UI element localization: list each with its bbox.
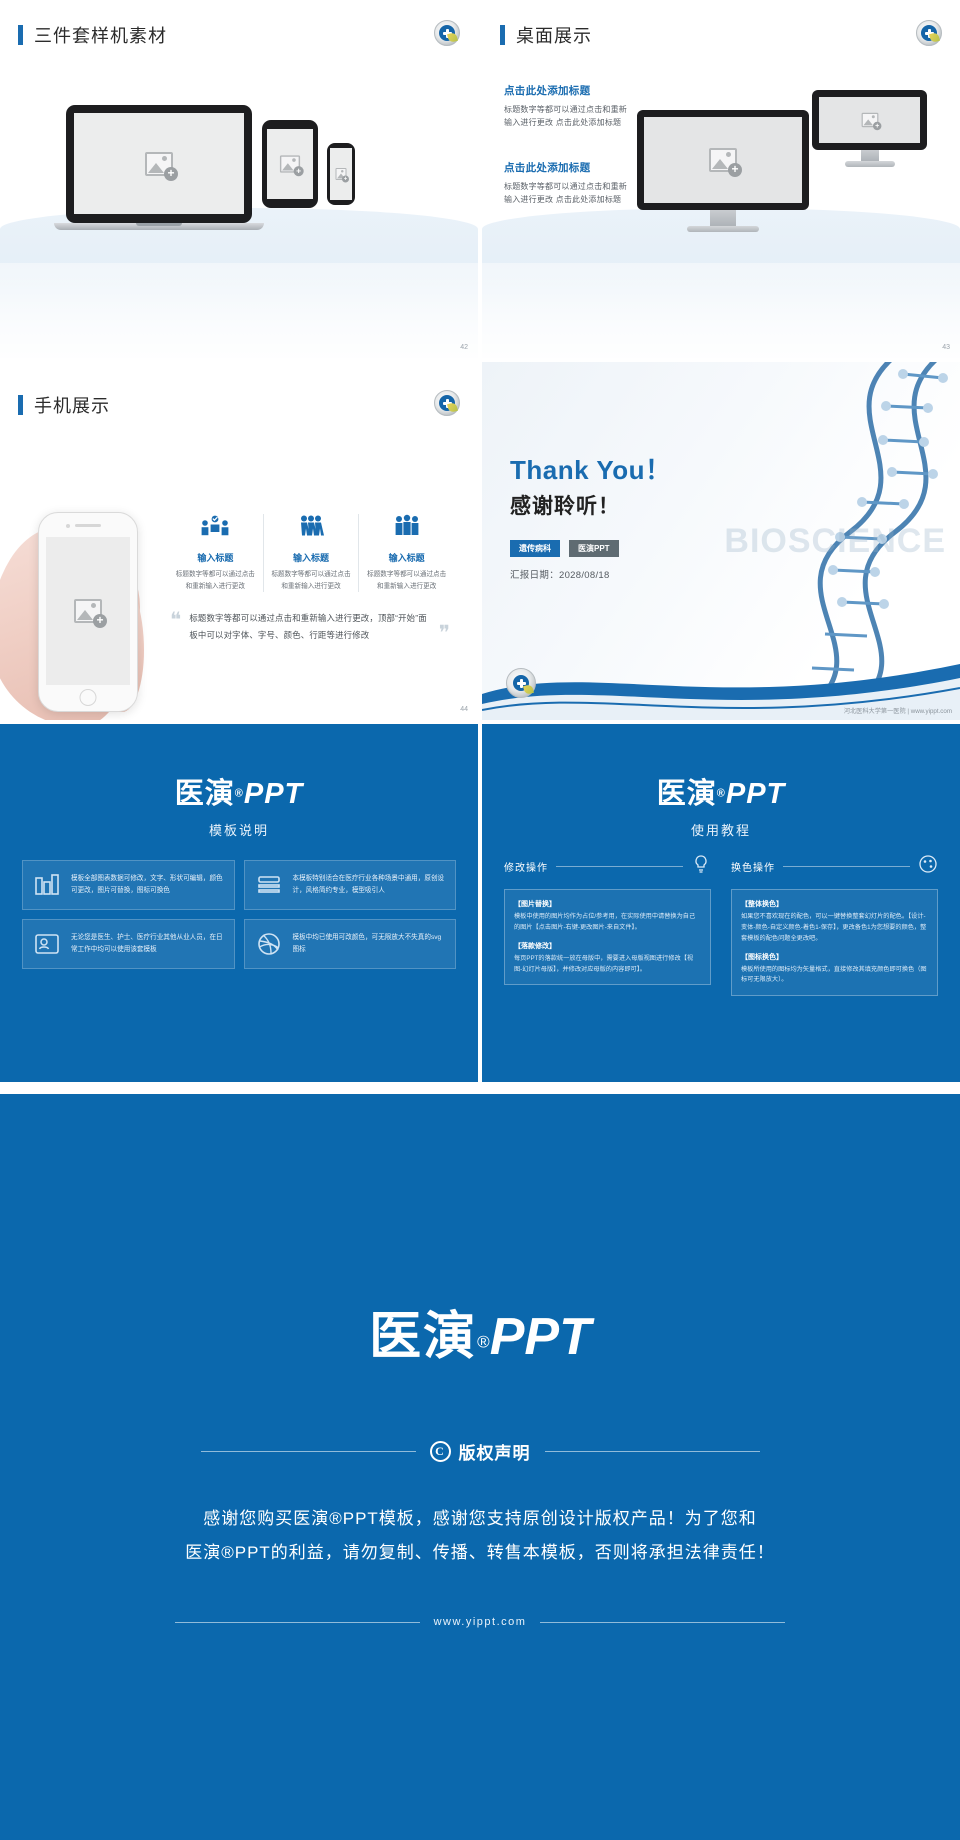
monitor-mockup-primary: +	[637, 110, 809, 232]
ppt-preview-page: 三件套样机素材 + +	[0, 0, 960, 1840]
info-card: 本模板特别适合在医疗行业各种场景中通用，原创设计，风格简约专业，模型吸引人	[244, 860, 457, 910]
info-card-grid: 模板全部图表数据可修改，文字、形状可编辑，颜色可更改，图片可替换，图标可换色 本…	[22, 860, 456, 969]
hospital-logo-icon	[506, 668, 536, 698]
team-check-icon	[200, 514, 230, 540]
dribbble-icon	[254, 929, 284, 959]
monitor-neck	[710, 210, 736, 226]
page-title: 三件套样机素材	[34, 22, 167, 48]
tablet-screen: +	[267, 129, 313, 199]
tutorial-box: 【图片替换】 模板中使用的图片均作为占位/参考用，在实际使用中请替换为自己的图片…	[504, 889, 711, 985]
monitor-neck	[861, 150, 879, 161]
report-date: 汇报日期：2028/08/18	[510, 567, 610, 581]
tutorial-box: 【整体换色】 如果您不喜欢现在的配色，可以一键替换整套幻灯片的配色。【设计-变体…	[731, 889, 938, 996]
phone-speaker	[75, 524, 101, 527]
slide-phone-display: 手机展示 +	[0, 362, 478, 720]
tutorial-columns: 修改操作 【图片替换】 模板中使用的图片均作为占位/参考用，在实际使用中请替换为…	[504, 854, 938, 996]
monitor-screen: +	[819, 97, 920, 143]
slide-page-number: 44	[460, 706, 468, 713]
info-card: 模板中均已使用可改颜色，可无限放大不失真的svg图标	[244, 919, 457, 969]
copyright-heading: C 版权声明	[430, 1439, 531, 1464]
title-accent-tick	[18, 25, 23, 45]
slide2-title-bar: 桌面展示	[500, 22, 592, 48]
block-heading: 点击此处添加标题	[504, 83, 630, 98]
feature-text: 标题数字等都可以通过点击和重新输入进行更改	[174, 569, 257, 592]
copyright-line-2: 医演®PPT的利益，请勿复制、传播、转售本模板，否则将承担法律责任！	[0, 1536, 960, 1570]
page-title: 手机展示	[34, 392, 110, 418]
feature-title: 输入标题	[174, 551, 257, 564]
logo-leaf-icon	[929, 32, 940, 43]
tutorial-item-heading: 【整体换色】	[741, 899, 928, 909]
monitor-bezel: +	[812, 90, 927, 150]
tutorial-item-text: 每页PPT的落款统一放在母版中，需要进入母版视图进行修改【视图-幻灯片母版】，并…	[514, 954, 701, 976]
tutorial-column-header: 换色操作	[731, 854, 938, 879]
tutorial-item-text: 如果您不喜欢现在的配色，可以一键替换整套幻灯片的配色。【设计-变体-颜色-自定义…	[741, 912, 928, 945]
monitor-mockup-secondary: +	[812, 90, 927, 167]
thank-you-english: Thank You！	[510, 450, 672, 487]
url-row: www.yippt.com	[0, 1616, 960, 1628]
block-body: 标题数字等都可以通过点击和重新输入进行更改 点击此处添加标题	[504, 180, 630, 206]
title-accent-tick	[18, 395, 23, 415]
block-body: 标题数字等都可以通过点击和重新输入进行更改 点击此处添加标题	[504, 103, 630, 129]
feature-item-3: 输入标题 标题数字等都可以通过点击和重新输入进行更改	[359, 514, 454, 592]
slide-template-info: 医演®PPT 模板说明 模板全部图表数据可修改，文字、形状可编辑，颜色可更改，图…	[0, 724, 478, 1082]
slide-usage-tutorial: 医演®PPT 使用教程 修改操作 【图片替换】 模板中使用的图片均作为占位/参考…	[482, 724, 960, 1082]
brand-registered-mark: ®	[235, 788, 244, 800]
copyright-heading-row: C 版权声明	[0, 1439, 960, 1464]
chip-brand[interactable]: 医演PPT	[569, 540, 619, 557]
slide2-text-block-2: 点击此处添加标题 标题数字等都可以通过点击和重新输入进行更改 点击此处添加标题	[504, 160, 630, 206]
info-card-text: 模板中均已使用可改颜色，可无限放大不失真的svg图标	[293, 932, 447, 955]
quote-open-icon: ❝	[170, 610, 181, 631]
hospital-logo-icon	[916, 20, 942, 46]
quote-block: ❝ 标题数字等都可以通过点击和重新输入进行更改，顶部“开始”面板中可以对字体、字…	[170, 610, 450, 644]
header-rule	[556, 866, 683, 867]
slide-subtitle: 使用教程	[482, 820, 960, 839]
thank-you-heading: Thank You！ 感谢聆听！	[510, 450, 672, 520]
layers-icon	[254, 870, 284, 900]
feature-item-1: 输入标题 标题数字等都可以通过点击和重新输入进行更改	[168, 514, 263, 592]
divider-right	[545, 1451, 760, 1452]
people-three-icon	[392, 514, 422, 540]
tutorial-item-heading: 【图片替换】	[514, 899, 701, 909]
laptop-screen: +	[74, 113, 244, 214]
logo-leaf-icon	[447, 402, 458, 413]
tutorial-column-edit: 修改操作 【图片替换】 模板中使用的图片均作为占位/参考用，在实际使用中请替换为…	[504, 854, 711, 996]
slide-thank-you: BIOSCIENCE Thank You！ 感谢聆听！ 遗传病科 医演PPT 汇…	[482, 362, 960, 720]
phone-mockup-large: +	[38, 512, 138, 712]
brand-registered-mark: ®	[717, 788, 726, 800]
monitor-foot	[845, 161, 895, 167]
feature-title: 输入标题	[270, 551, 353, 564]
feature-item-2: 输入标题 标题数字等都可以通过点击和重新输入进行更改	[264, 514, 359, 592]
image-placeholder-icon: +	[74, 599, 102, 623]
divider-left	[201, 1451, 416, 1452]
info-card-text: 无论您是医生、护士、医疗行业其他从业人员，在日常工作中均可以使用该套模板	[71, 932, 225, 955]
slide-laptop-mockups: 三件套样机素材 + +	[0, 0, 478, 358]
brand-logo: 医演®PPT	[0, 770, 478, 812]
brand-name-ppt: PPT	[490, 1308, 591, 1366]
brand-logo-large: 医演®PPT	[0, 1294, 960, 1369]
brand-name-ppt: PPT	[244, 778, 303, 810]
tutorial-item-heading: 【图标换色】	[741, 952, 928, 962]
feature-title: 输入标题	[365, 551, 448, 564]
tutorial-item-heading: 【落款修改】	[514, 941, 701, 951]
image-placeholder-icon: +	[145, 152, 173, 176]
logo-leaf-icon	[447, 32, 458, 43]
copyright-line-1: 感谢您购买医演®PPT模板，感谢您支持原创设计版权产品！为了您和	[0, 1502, 960, 1536]
slide-subtitle: 模板说明	[0, 820, 478, 839]
divider-right	[540, 1622, 785, 1623]
background-watermark-text: BIOSCIENCE	[724, 522, 946, 561]
tutorial-item-text: 模板所使用的图标均为矢量格式，直接修改其填充颜色即可换色（图标可无限放大）。	[741, 965, 928, 987]
brand-url[interactable]: www.yippt.com	[434, 1616, 527, 1628]
info-card: 无论您是医生、护士、医疗行业其他从业人员，在日常工作中均可以使用该套模板	[22, 919, 235, 969]
hospital-logo-icon	[434, 20, 460, 46]
tutorial-column-header: 修改操作	[504, 854, 711, 879]
image-placeholder-icon: +	[336, 168, 347, 180]
bulb-icon	[691, 854, 711, 879]
palette-icon	[918, 854, 938, 879]
page-title: 桌面展示	[516, 22, 592, 48]
info-card-text: 本模板特别适合在医疗行业各种场景中通用，原创设计，风格简约专业，模型吸引人	[293, 873, 447, 896]
brand-name-cn: 医演	[369, 1308, 477, 1366]
laptop-mockup: +	[66, 105, 252, 230]
user-id-icon	[32, 929, 62, 959]
info-card: 模板全部图表数据可修改，文字、形状可编辑，颜色可更改，图片可替换，图标可换色	[22, 860, 235, 910]
brand-registered-mark: ®	[477, 1333, 490, 1352]
brand-name-ppt: PPT	[726, 778, 785, 810]
tutorial-column-title: 修改操作	[504, 859, 548, 874]
block-heading: 点击此处添加标题	[504, 160, 630, 175]
quote-close-icon: ❞	[439, 623, 450, 644]
copyright-icon: C	[430, 1441, 451, 1462]
hospital-logo-icon	[434, 390, 460, 416]
phone-camera-icon	[66, 524, 70, 528]
laptop-base	[54, 223, 264, 230]
feature-text: 标题数字等都可以通过点击和重新输入进行更改	[270, 569, 353, 592]
image-placeholder-icon: +	[861, 113, 878, 127]
image-placeholder-icon: +	[280, 155, 300, 172]
slide-page-number: 43	[942, 344, 950, 351]
feature-row: 输入标题 标题数字等都可以通过点击和重新输入进行更改 输入标题 标题数字等都可以…	[168, 514, 454, 592]
tablet-mockup: +	[262, 120, 318, 208]
phone-screen: +	[46, 537, 130, 685]
copyright-heading-text: 版权声明	[459, 1439, 531, 1464]
slide-page-number: 42	[460, 344, 468, 351]
people-group-icon	[296, 514, 326, 540]
slide1-title-bar: 三件套样机素材	[18, 22, 167, 48]
info-card-text: 模板全部图表数据可修改，文字、形状可编辑，颜色可更改，图片可替换，图标可换色	[71, 873, 225, 896]
copyright-body: 感谢您购买医演®PPT模板，感谢您支持原创设计版权产品！为了您和 医演®PPT的…	[0, 1502, 960, 1570]
divider-left	[175, 1622, 420, 1623]
quote-text: 标题数字等都可以通过点击和重新输入进行更改，顶部“开始”面板中可以对字体、字号、…	[189, 610, 432, 644]
monitor-bezel: +	[637, 110, 809, 210]
brand-name-cn: 医演	[175, 778, 235, 810]
image-placeholder-icon: +	[709, 148, 737, 172]
tutorial-item-text: 模板中使用的图片均作为占位/参考用，在实际使用中请替换为自己的图片【点击图片-右…	[514, 912, 701, 934]
slide2-text-block-1: 点击此处添加标题 标题数字等都可以通过点击和重新输入进行更改 点击此处添加标题	[504, 83, 630, 129]
thank-you-chinese: 感谢聆听！	[510, 490, 672, 520]
monitor-screen: +	[644, 117, 802, 203]
chart-bars-icon	[32, 870, 62, 900]
brand-logo: 医演®PPT	[482, 770, 960, 812]
slide-copyright: 医演®PPT C 版权声明 感谢您购买医演®PPT模板，感谢您支持原创设计版权产…	[0, 1094, 960, 1840]
tutorial-column-color: 换色操作 【整体换色】 如果您不喜欢现在的配色，可以一键替换整套幻灯片的配色。【…	[731, 854, 938, 996]
laptop-lid: +	[66, 105, 252, 223]
phone-home-button	[80, 689, 97, 706]
slide-desktop-display: 桌面展示 点击此处添加标题 标题数字等都可以通过点击和重新输入进行更改 点击此处…	[482, 0, 960, 358]
phone-mockup: +	[327, 143, 355, 205]
title-accent-tick	[500, 25, 505, 45]
monitor-foot	[687, 226, 759, 232]
header-rule	[783, 866, 910, 867]
tutorial-column-title: 换色操作	[731, 859, 775, 874]
brand-name-cn: 医演	[657, 778, 717, 810]
slide2-background-fade	[482, 263, 960, 358]
slide1-background-fade	[0, 263, 478, 358]
feature-text: 标题数字等都可以通过点击和重新输入进行更改	[365, 569, 448, 592]
chip-row: 遗传病科 医演PPT	[510, 540, 619, 557]
phone-screen: +	[330, 148, 352, 200]
slide-footer-text: 河北医科大学第一医院 | www.yippt.com	[844, 706, 952, 715]
chip-department[interactable]: 遗传病科	[510, 540, 560, 557]
slide3-title-bar: 手机展示	[18, 392, 110, 418]
